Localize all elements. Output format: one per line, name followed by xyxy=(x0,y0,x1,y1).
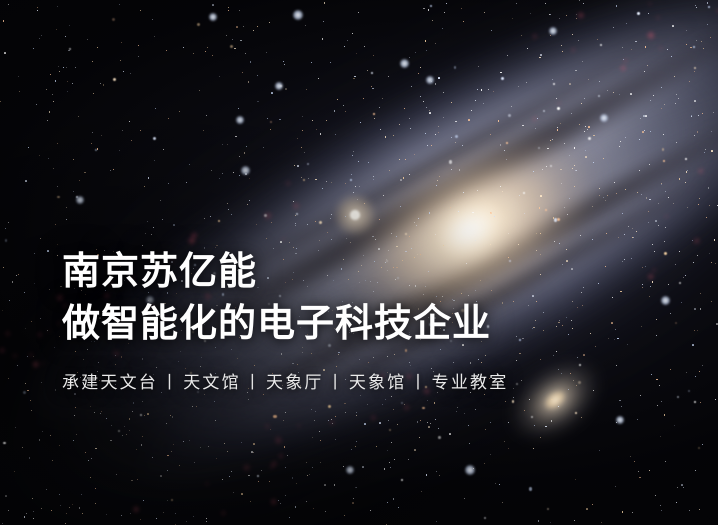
subtitle-item: 天象厅 xyxy=(266,373,324,392)
subtitle-item: 专业教室 xyxy=(432,373,509,392)
subtitle-service-list: 承建天文台丨天文馆丨天象厅丨天象馆丨专业教室 xyxy=(62,372,508,394)
subtitle-item: 天文馆 xyxy=(183,373,241,392)
subtitle-separator: 丨 xyxy=(324,372,349,394)
hero-banner: 南京苏亿能 做智能化的电子科技企业 承建天文台丨天文馆丨天象厅丨天象馆丨专业教室 xyxy=(0,0,718,525)
subtitle-separator: 丨 xyxy=(241,372,266,394)
headline-line-2: 做智能化的电子科技企业 xyxy=(62,298,508,350)
subtitle-separator: 丨 xyxy=(158,372,183,394)
subtitle-item: 承建天文台 xyxy=(62,373,158,392)
subtitle-separator: 丨 xyxy=(406,372,431,394)
hero-copy: 南京苏亿能 做智能化的电子科技企业 承建天文台丨天文馆丨天象厅丨天象馆丨专业教室 xyxy=(62,246,508,394)
headline-line-1: 南京苏亿能 xyxy=(62,246,508,298)
subtitle-item: 天象馆 xyxy=(349,373,407,392)
